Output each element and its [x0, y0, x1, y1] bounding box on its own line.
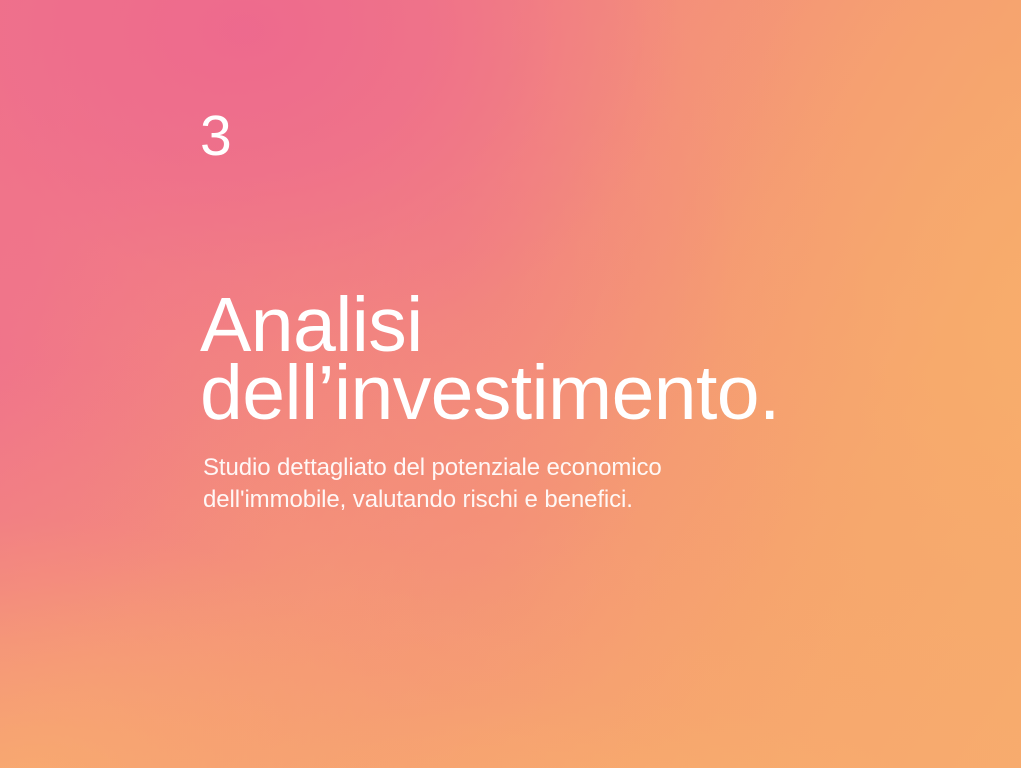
section-number: 3 — [200, 108, 232, 165]
slide: 3 Analisi dell’investimento. Studio dett… — [0, 0, 1021, 768]
slide-content: 3 Analisi dell’investimento. Studio dett… — [200, 0, 960, 768]
title-line-1: Analisi — [200, 291, 960, 359]
subtitle-line-2: dell'immobile, valutando rischi e benefi… — [203, 484, 883, 516]
page-title: Analisi dell’investimento. — [200, 291, 960, 427]
subtitle-line-1: Studio dettagliato del potenziale econom… — [203, 452, 883, 484]
slide-subtitle: Studio dettagliato del potenziale econom… — [203, 452, 883, 516]
title-line-2: dell’investimento. — [200, 359, 960, 427]
